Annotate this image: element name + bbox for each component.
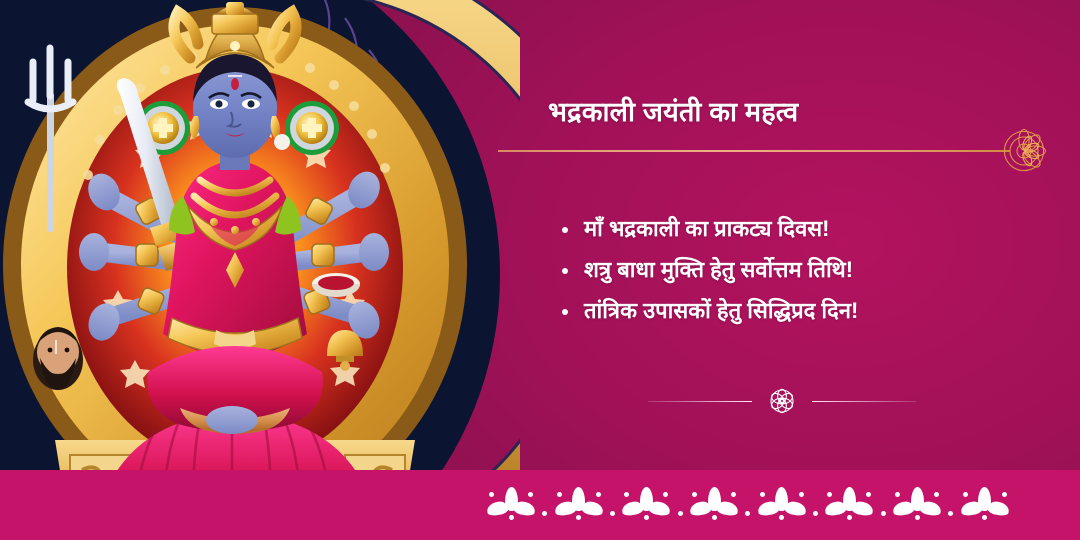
lotus-separator-dot — [678, 511, 683, 516]
goddess-bhadrakali-illustration — [0, 0, 520, 540]
page-title: भद्रकाली जयंती का महत्व — [548, 92, 798, 129]
key-points-list: माँ भद्रकाली का प्राकट्य दिवस! शत्रु बाध… — [562, 214, 1032, 337]
text-content-column: भद्रकाली जयंती का महत्व माँ भद्रकाली का … — [548, 0, 1048, 540]
bullet-dot-icon — [562, 309, 568, 315]
lotus-motif-icon — [488, 485, 534, 517]
lotus-separator-dot — [881, 511, 886, 516]
lotus-motif-icon — [691, 485, 737, 517]
list-item-label: तांत्रिक उपासकों हेतु सिद्धिप्रद दिन! — [584, 296, 858, 325]
bullet-dot-icon — [562, 227, 568, 233]
lotus-separator-dot — [813, 511, 818, 516]
list-item: माँ भद्रकाली का प्राकट्य दिवस! — [562, 214, 1032, 243]
list-item-label: शत्रु बाधा मुक्ति हेतु सर्वोत्तम तिथि! — [584, 255, 853, 284]
lotus-separator-dot — [745, 511, 750, 516]
divider-line-right — [812, 401, 916, 402]
list-item: शत्रु बाधा मुक्ति हेतु सर्वोत्तम तिथि! — [562, 255, 1032, 284]
bullet-dot-icon — [562, 268, 568, 274]
flower-rosette-icon — [767, 386, 797, 416]
medallion-right — [285, 101, 339, 155]
lotus-border-pattern — [488, 483, 1008, 517]
lotus-motif-icon — [962, 485, 1008, 517]
lotus-motif-icon — [556, 485, 602, 517]
lotus-motif-icon — [623, 485, 669, 517]
lotus-motif-icon — [759, 485, 805, 517]
list-item-label: माँ भद्रकाली का प्राकट्य दिवस! — [584, 214, 830, 243]
ornamental-divider — [648, 385, 916, 417]
deity-artwork-panel — [0, 0, 520, 540]
divider-line-left — [648, 401, 752, 402]
lotus-motif-icon — [894, 485, 940, 517]
lotus-separator-dot — [610, 511, 615, 516]
bhadrakali-jayanti-banner: भद्रकाली जयंती का महत्व माँ भद्रकाली का … — [0, 0, 1080, 540]
list-item: तांत्रिक उपासकों हेतु सिद्धिप्रद दिन! — [562, 296, 1032, 325]
lotus-separator-dot — [542, 511, 547, 516]
lotus-separator-dot — [948, 511, 953, 516]
lotus-motif-icon — [826, 485, 872, 517]
